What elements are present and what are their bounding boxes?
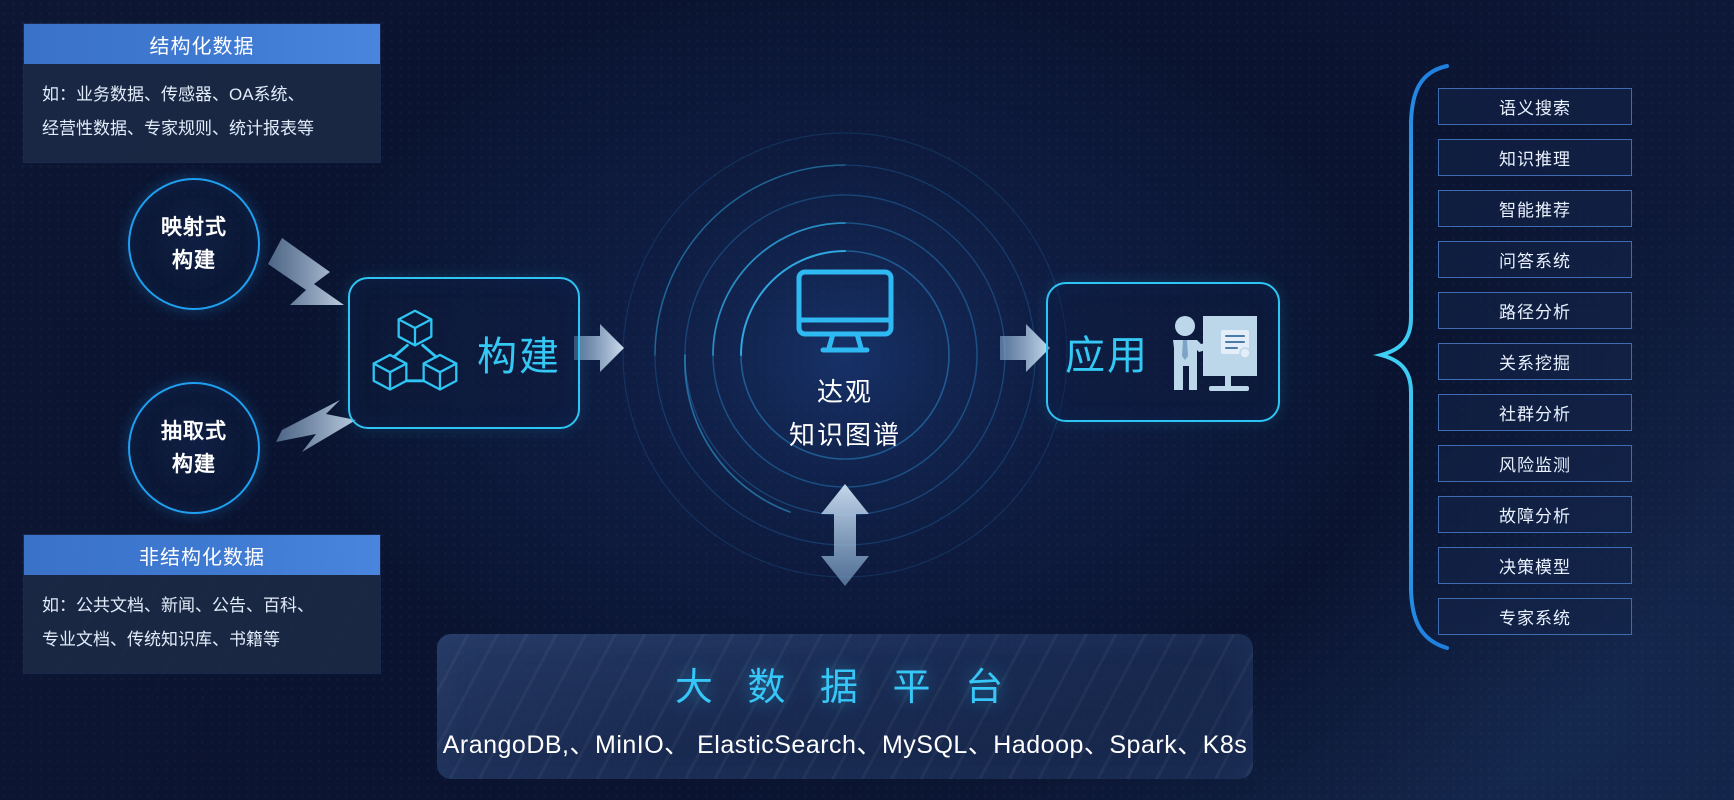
application-label-7: 风险监测 (1499, 451, 1571, 476)
knowledge-graph-center: 达观 知识图谱 (745, 268, 945, 458)
build-mode-mapping: 映射式 构建 (128, 178, 260, 310)
arrow-extract-to-build (276, 400, 356, 452)
unstructured-data-panel: 非结构化数据 如：公共文档、新闻、公告、百科、 专业文档、传统知识库、书籍等 (24, 535, 380, 673)
build-mode-mapping-line1: 映射式 (161, 211, 227, 244)
unstructured-data-line-1: 如：公共文档、新闻、公告、百科、 (42, 589, 362, 623)
build-mode-mapping-line2: 构建 (172, 244, 216, 277)
big-data-platform-panel: 大 数 据 平 台 ArangoDB,、MinIO、 ElasticSearch… (437, 634, 1253, 779)
build-mode-extraction-line1: 抽取式 (161, 415, 227, 448)
application-item-1[interactable]: 知识推理 (1438, 139, 1632, 176)
knowledge-graph-line1: 达观 (745, 372, 945, 409)
presenter-board-icon (1157, 306, 1261, 398)
application-label-6: 社群分析 (1499, 400, 1571, 425)
big-data-platform-title: 大 数 据 平 台 (437, 656, 1253, 711)
apply-stage-label: 应用 (1065, 323, 1149, 381)
application-item-5[interactable]: 关系挖掘 (1438, 343, 1632, 380)
big-data-platform-stack: ArangoDB,、MinIO、 ElasticSearch、MySQL、Had… (437, 725, 1253, 761)
unstructured-data-body: 如：公共文档、新闻、公告、百科、 专业文档、传统知识库、书籍等 (24, 575, 380, 673)
application-label-2: 智能推荐 (1499, 196, 1571, 221)
application-label-9: 决策模型 (1499, 553, 1571, 578)
build-mode-extraction-line2: 构建 (172, 448, 216, 481)
application-label-8: 故障分析 (1499, 502, 1571, 527)
application-label-5: 关系挖掘 (1499, 349, 1571, 374)
application-item-8[interactable]: 故障分析 (1438, 496, 1632, 533)
application-item-3[interactable]: 问答系统 (1438, 241, 1632, 278)
application-list: 语义搜索 知识推理 智能推荐 问答系统 路径分析 关系挖掘 社群分析 风险监测 … (1438, 88, 1632, 635)
structured-data-title: 结构化数据 (24, 24, 380, 64)
build-stage-box: 构建 (348, 277, 580, 429)
application-item-2[interactable]: 智能推荐 (1438, 190, 1632, 227)
application-item-9[interactable]: 决策模型 (1438, 547, 1632, 584)
build-mode-extraction: 抽取式 构建 (128, 382, 260, 514)
apply-stage-box: 应用 (1046, 282, 1280, 422)
structured-data-line-1: 如：业务数据、传感器、OA系统、 (42, 78, 362, 112)
knowledge-graph-line2: 知识图谱 (745, 415, 945, 452)
application-label-0: 语义搜索 (1499, 94, 1571, 119)
application-label-10: 专家系统 (1499, 604, 1571, 629)
monitor-icon (793, 268, 897, 360)
unstructured-data-title: 非结构化数据 (24, 535, 380, 575)
structured-data-panel: 结构化数据 如：业务数据、传感器、OA系统、 经营性数据、专家规则、统计报表等 (24, 24, 380, 162)
build-stage-label: 构建 (477, 324, 561, 382)
diagram-canvas: 结构化数据 如：业务数据、传感器、OA系统、 经营性数据、专家规则、统计报表等 … (0, 0, 1734, 800)
application-label-3: 问答系统 (1499, 247, 1571, 272)
structured-data-line-2: 经营性数据、专家规则、统计报表等 (42, 112, 362, 146)
application-item-7[interactable]: 风险监测 (1438, 445, 1632, 482)
unstructured-data-line-2: 专业文档、传统知识库、书籍等 (42, 623, 362, 657)
application-item-6[interactable]: 社群分析 (1438, 394, 1632, 431)
arrow-map-to-build (268, 238, 344, 305)
application-item-4[interactable]: 路径分析 (1438, 292, 1632, 329)
structured-data-body: 如：业务数据、传感器、OA系统、 经营性数据、专家规则、统计报表等 (24, 64, 380, 162)
cube-network-icon (367, 305, 463, 401)
application-label-1: 知识推理 (1499, 145, 1571, 170)
application-item-0[interactable]: 语义搜索 (1438, 88, 1632, 125)
application-label-4: 路径分析 (1499, 298, 1571, 323)
application-item-10[interactable]: 专家系统 (1438, 598, 1632, 635)
